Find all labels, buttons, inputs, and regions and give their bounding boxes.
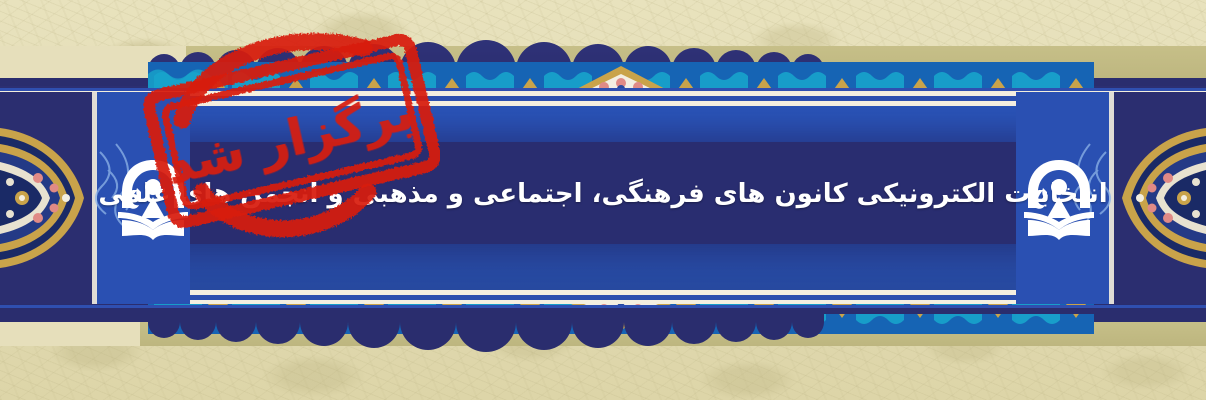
tile-strip-bottom [148, 304, 1094, 334]
kanoun-logo-left [110, 156, 196, 244]
rule-blue-bottom-1 [0, 305, 1206, 308]
tile-strip-bottom-svg [148, 304, 1094, 334]
election-banner: انتخابات الکترونیکی کانون های فرهنگی، اج… [0, 0, 1206, 400]
banner-headline-text: انتخابات الکترونیکی کانون های فرهنگی، اج… [98, 179, 1107, 209]
olive-notch-bottom-left [0, 322, 140, 346]
kanoun-logo-right [1016, 156, 1102, 244]
kanoun-logo-right-svg [1016, 156, 1102, 244]
kanoun-logo-left-svg [110, 156, 196, 244]
